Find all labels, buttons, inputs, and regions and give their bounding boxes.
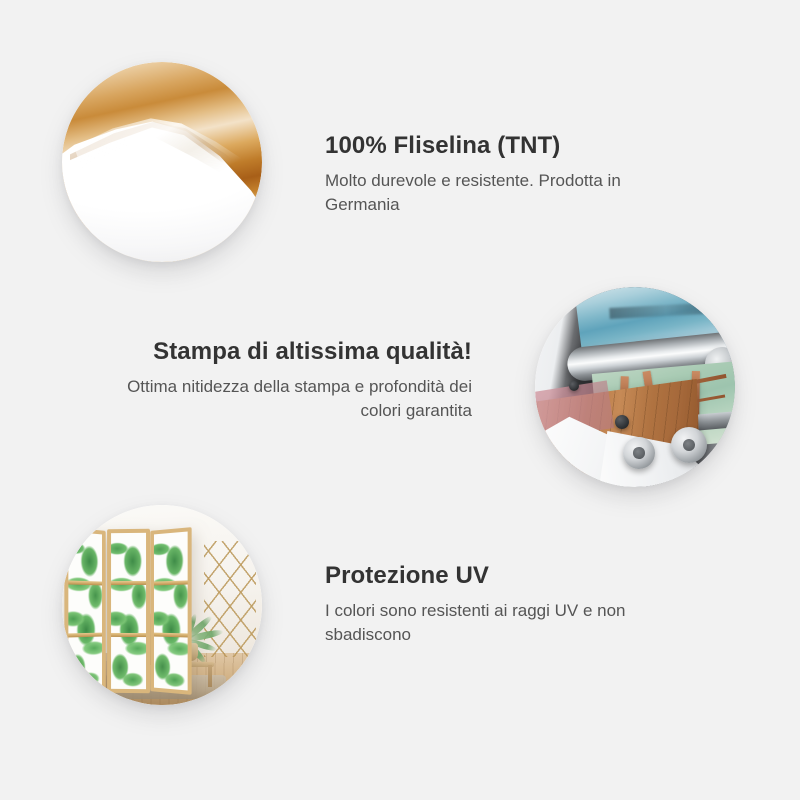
feature-heading: 100% Fliselina (TNT) bbox=[325, 132, 665, 160]
feature-body: Molto durevole e resistente. Prodotta in… bbox=[325, 169, 665, 217]
machine-knob bbox=[615, 415, 629, 429]
machine-knob bbox=[569, 381, 579, 391]
feature-text-protezione-uv: Protezione UV I colori sono resistenti a… bbox=[325, 562, 665, 648]
circle-clip bbox=[535, 287, 735, 487]
tropical-leaf-pattern bbox=[154, 532, 187, 691]
feature-body: Ottima nitidezza della stampa e profondi… bbox=[120, 375, 472, 423]
feature-heading: Stampa di altissima qualità! bbox=[120, 338, 472, 366]
feature-text-fliselina: 100% Fliselina (TNT) Molto durevole e re… bbox=[325, 132, 665, 218]
divider-panel bbox=[64, 527, 105, 695]
machine-wheel bbox=[623, 437, 655, 469]
printing-machine-image bbox=[535, 287, 735, 487]
gold-lattice-wall-decor bbox=[204, 541, 256, 657]
promo-feature-panel: 100% Fliselina (TNT) Molto durevole e re… bbox=[0, 0, 800, 800]
tropical-leaf-pattern bbox=[68, 532, 101, 691]
circle-clip bbox=[62, 62, 262, 262]
feature-heading: Protezione UV bbox=[325, 562, 665, 590]
side-table-leg bbox=[208, 665, 212, 687]
divider-panel bbox=[107, 529, 150, 693]
feature-text-stampa-qualita: Stampa di altissima qualità! Ottima niti… bbox=[120, 338, 472, 424]
tropical-room-divider-image bbox=[62, 505, 262, 705]
panel-slat bbox=[111, 633, 146, 637]
machine-wheel bbox=[671, 427, 707, 463]
divider-panel bbox=[151, 527, 192, 695]
wallpaper-peeling-corner-image bbox=[62, 62, 262, 262]
folding-room-divider bbox=[64, 529, 192, 693]
feature-body: I colori sono resistenti ai raggi UV e n… bbox=[325, 599, 665, 647]
circle-clip bbox=[62, 505, 262, 705]
tropical-leaf-pattern bbox=[111, 533, 146, 689]
panel-slat bbox=[111, 581, 146, 585]
